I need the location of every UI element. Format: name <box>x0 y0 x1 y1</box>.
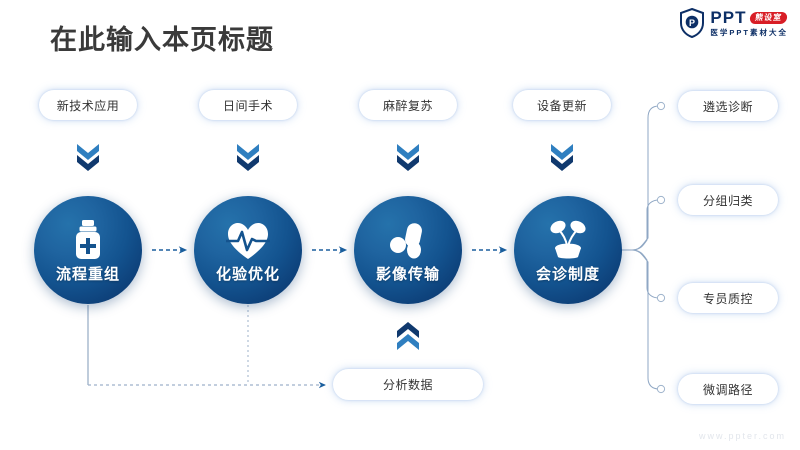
right-label-1[interactable]: 遴选诊断 <box>678 91 778 121</box>
node-dot-right-2 <box>657 196 664 203</box>
branch-right-3 <box>632 250 659 298</box>
node-dot-right-4 <box>657 385 664 392</box>
right-label-2-text: 分组归类 <box>703 192 753 209</box>
right-label-3[interactable]: 专员质控 <box>678 283 778 313</box>
branch-right-4 <box>632 250 659 389</box>
node-circle-3[interactable]: 影像传输 <box>354 196 462 304</box>
node-circle-4[interactable]: 会诊制度 <box>514 196 622 304</box>
right-label-4-text: 微调路径 <box>703 381 753 398</box>
chevron-down-icon-2 <box>235 142 261 174</box>
slide-canvas: 在此输入本页标题 P PPT 熊设室 医学PPT素材大全 <box>0 0 800 450</box>
shield-icon: P <box>679 8 705 38</box>
bottom-label-analysis-text: 分析数据 <box>383 376 433 393</box>
sprout-icon <box>547 217 589 261</box>
heart-pulse-icon <box>226 217 270 261</box>
branch-right-2 <box>632 200 659 250</box>
right-label-3-text: 专员质控 <box>703 290 753 307</box>
bottom-label-analysis[interactable]: 分析数据 <box>333 369 483 400</box>
top-label-3[interactable]: 麻醉复苏 <box>359 90 457 120</box>
node-dot-right-1 <box>657 102 664 109</box>
node-2-caption: 化验优化 <box>216 263 280 284</box>
logo-tagline: 医学PPT素材大全 <box>710 29 788 37</box>
logo-mark-letter: P <box>689 18 695 28</box>
medicine-bottle-icon <box>71 217 105 261</box>
chevron-down-icon-1 <box>75 142 101 174</box>
node-dot-right-3 <box>657 294 664 301</box>
node-circle-2[interactable]: 化验优化 <box>194 196 302 304</box>
right-label-2[interactable]: 分组归类 <box>678 185 778 215</box>
top-label-3-text: 麻醉复苏 <box>383 97 433 114</box>
chevron-down-icon-4 <box>549 142 575 174</box>
node-4-caption: 会诊制度 <box>536 263 600 284</box>
pills-icon <box>388 217 428 261</box>
chevron-down-icon-3 <box>395 142 421 174</box>
brand-logo: P PPT 熊设室 医学PPT素材大全 <box>679 6 788 40</box>
node-1-caption: 流程重组 <box>56 263 120 284</box>
branch-right-1 <box>632 106 659 250</box>
right-label-1-text: 遴选诊断 <box>703 98 753 115</box>
node-3-caption: 影像传输 <box>376 263 440 284</box>
logo-badge: 熊设室 <box>750 12 789 24</box>
top-label-1-text: 新技术应用 <box>57 97 120 114</box>
page-title: 在此输入本页标题 <box>50 18 274 57</box>
right-label-4[interactable]: 微调路径 <box>678 374 778 404</box>
top-label-1[interactable]: 新技术应用 <box>39 90 137 120</box>
top-label-4-text: 设备更新 <box>537 97 587 114</box>
logo-text-block: PPT 熊设室 医学PPT素材大全 <box>710 9 788 37</box>
chevron-up-icon-1 <box>395 320 421 352</box>
node-circle-1[interactable]: 流程重组 <box>34 196 142 304</box>
top-label-2[interactable]: 日间手术 <box>199 90 297 120</box>
top-label-4[interactable]: 设备更新 <box>513 90 611 120</box>
footer-watermark: www.ppter.com <box>699 431 786 441</box>
logo-brand: PPT <box>710 9 746 26</box>
top-label-2-text: 日间手术 <box>223 97 273 114</box>
